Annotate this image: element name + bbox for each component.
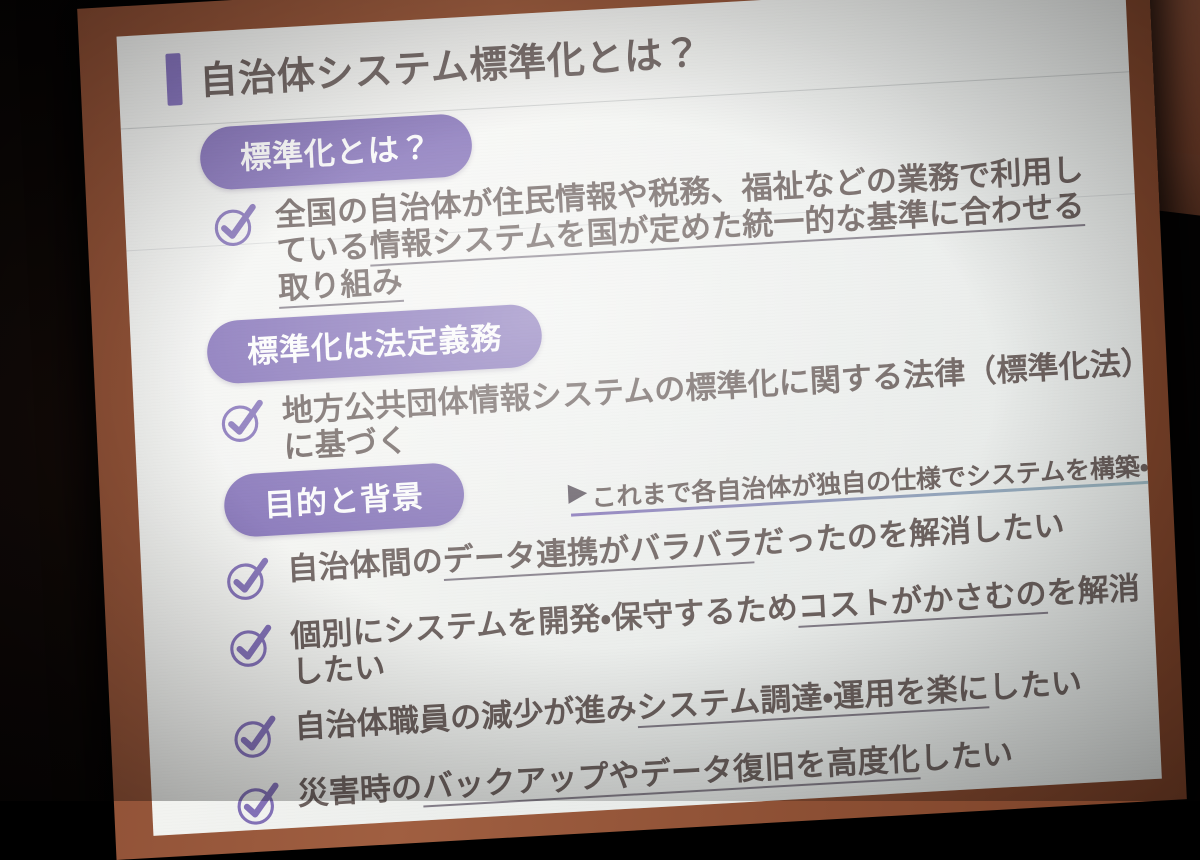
page-title: 自治体システム標準化とは？ xyxy=(198,22,702,105)
triangle-marker-icon: ▶ xyxy=(567,479,587,508)
list-item-lead: 自治体職員の減少が進み xyxy=(294,690,638,744)
section-badge-standardization-definition: 標準化とは？ xyxy=(199,113,473,191)
list-item-lead: 自治体間の xyxy=(286,543,443,587)
presentation-slide: 自治体システム標準化とは？ 標準化とは？ 全国の自治体が住民 xyxy=(116,0,1161,836)
list-item-emphasis: システム調達・運用を楽に xyxy=(636,670,990,728)
list-item-tail: したい xyxy=(919,736,1014,776)
check-circle-icon xyxy=(226,622,275,672)
list-item-tail: したい xyxy=(988,664,1083,704)
check-circle-icon xyxy=(223,555,272,605)
section-badge-label: 標準化とは？ xyxy=(199,113,473,191)
section-badge-label: 目的と背景 xyxy=(223,462,465,539)
auditorium-backdrop: 自治体システム標準化とは？ 標準化とは？ 全国の自治体が住民 xyxy=(0,0,1200,801)
slide-content: 自治体システム標準化とは？ 標準化とは？ 全国の自治体が住民 xyxy=(116,0,1161,836)
slide-title-row: 自治体システム標準化とは？ xyxy=(165,22,702,107)
section-badge-legal-obligation: 標準化は法定義務 xyxy=(206,303,544,385)
section-note-purpose-background: ▶ これまで各自治体が独自の仕様でシステムを構築・運用 xyxy=(567,444,1161,516)
check-circle-icon xyxy=(230,712,279,762)
list-item-emphasis: コストがかさむの xyxy=(797,576,1048,628)
check-circle-icon xyxy=(233,779,282,829)
list-item-emphasis: データ連携がバラバラ xyxy=(442,525,755,581)
purpose-background-bullet-list: 自治体間のデータ連携がバラバラだったのを解消したい 個別にシステムを開発・保守す… xyxy=(223,503,1162,829)
title-accent-bar xyxy=(165,53,182,106)
section-badge-purpose-background: 目的と背景 xyxy=(223,462,465,539)
list-item-tail: だったのを解消したい xyxy=(753,508,1066,561)
check-circle-icon xyxy=(210,201,259,251)
check-circle-icon xyxy=(217,397,266,447)
projection-screen-frame: 自治体システム標準化とは？ 標準化とは？ 全国の自治体が住民 xyxy=(77,0,1187,860)
list-item-lead: 個別にシステムを開発・保守するため xyxy=(290,590,799,654)
list-item-lead: 災害時の xyxy=(297,769,423,811)
section-badge-label: 標準化は法定義務 xyxy=(206,303,544,385)
section-note-text: これまで各自治体が独自の仕様でシステムを構築・運用 xyxy=(591,444,1162,514)
list-item-emphasis: バックアップやデータ復旧を高度化 xyxy=(421,741,920,807)
